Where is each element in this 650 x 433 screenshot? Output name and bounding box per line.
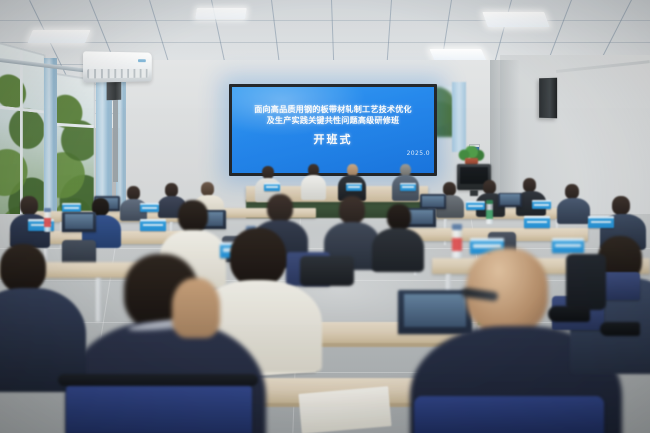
bag	[300, 256, 354, 286]
ceiling-light	[482, 12, 549, 27]
projection-screen: 面向高品质用钢的板带材轧制工艺技术优化 及生产实践关键共性问题高级研修班 开班式…	[229, 84, 437, 176]
wall-speaker-icon	[539, 78, 557, 119]
name-card	[532, 200, 551, 209]
ac-indicator	[138, 59, 146, 62]
monitor-stand	[470, 190, 478, 196]
name-card	[552, 238, 584, 253]
water-bottle	[486, 200, 493, 224]
chair-frame	[58, 374, 258, 386]
ceiling-light	[195, 8, 247, 19]
shoe	[548, 306, 590, 322]
name-card	[140, 219, 166, 231]
ac-vent	[87, 69, 148, 79]
name-card	[62, 203, 81, 212]
name-card	[400, 183, 416, 191]
photo-scene: 面向高品质用钢的板带材轧制工艺技术优化 及生产实践关键共性问题高级研修班 开班式…	[0, 0, 650, 433]
name-card	[588, 216, 614, 228]
screen-title-line-1: 面向高品质用钢的板带材轧制工艺技术优化	[232, 104, 434, 115]
laptop[interactable]	[498, 193, 522, 207]
ac-conduit	[113, 96, 118, 182]
handout-papers	[298, 386, 391, 433]
chair[interactable]	[414, 396, 604, 433]
water-bottle	[44, 208, 51, 232]
laptop[interactable]	[398, 290, 472, 334]
curtain	[452, 82, 466, 152]
screen-date: 2025.0	[407, 150, 430, 157]
chair[interactable]	[66, 382, 252, 433]
screen-title: 面向高品质用钢的板带材轧制工艺技术优化 及生产实践关键共性问题高级研修班 开班式	[232, 104, 434, 150]
attendee-arm	[172, 278, 220, 338]
laptop[interactable]	[420, 194, 446, 209]
screen-title-line-2: 及生产实践关键共性问题高级研修班	[232, 115, 434, 126]
name-card	[264, 183, 280, 191]
air-conditioner-icon	[83, 51, 152, 82]
name-card	[346, 183, 362, 191]
shoe	[600, 322, 640, 336]
name-card	[466, 201, 485, 210]
name-card	[524, 216, 550, 228]
led-display: 面向高品质用钢的板带材轧制工艺技术优化 及生产实践关键共性问题高级研修班 开班式…	[232, 87, 434, 173]
screen-title-line-3: 开班式	[314, 133, 353, 146]
attendee-legs	[566, 254, 606, 310]
laptop[interactable]	[62, 212, 96, 232]
water-bottle	[452, 224, 462, 258]
name-card	[140, 203, 159, 212]
